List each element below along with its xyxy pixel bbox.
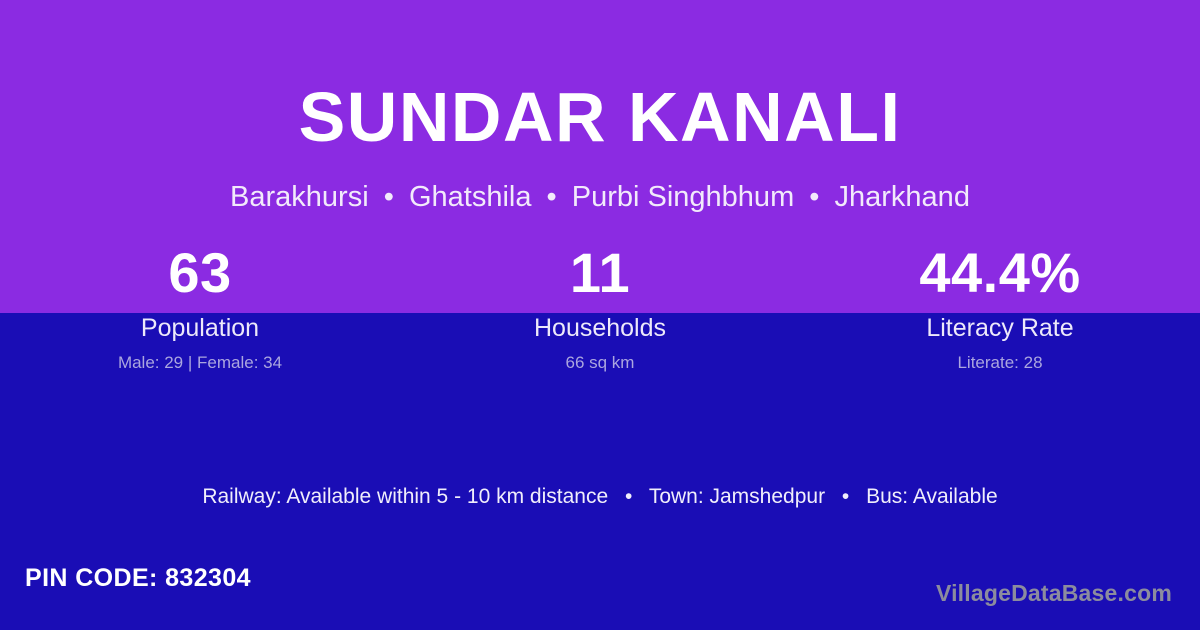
stat-detail-literacy-rate: Literate: 28 xyxy=(800,354,1200,371)
stat-label-households: Households xyxy=(400,316,800,341)
transit-item-bus: Bus: Available xyxy=(866,485,998,508)
stat-value-households: 11 xyxy=(400,245,800,301)
pin-code-label: PIN CODE: 832304 xyxy=(25,566,251,591)
stat-value-population: 63 xyxy=(0,245,400,301)
village-info-card: SUNDAR KANALI Barakhursi • Ghatshila • P… xyxy=(0,0,1200,630)
transit-separator-icon: • xyxy=(831,485,860,508)
transit-item-town: Town: Jamshedpur xyxy=(649,485,825,508)
brand-watermark: VillageDataBase.com xyxy=(936,582,1172,605)
stat-value-literacy-rate: 44.4% xyxy=(800,245,1200,301)
stat-detail-households: 66 sq km xyxy=(400,354,800,371)
stat-detail-population: Male: 29 | Female: 34 xyxy=(0,354,400,371)
transit-separator-icon: • xyxy=(614,485,643,508)
transit-item-railway: Railway: Available within 5 - 10 km dist… xyxy=(202,485,608,508)
stat-label-population: Population xyxy=(0,316,400,341)
stat-households: 11 Households 66 sq km xyxy=(400,0,800,400)
stat-population: 63 Population Male: 29 | Female: 34 xyxy=(0,0,400,400)
stats-row: 63 Population Male: 29 | Female: 34 11 H… xyxy=(0,0,1200,400)
card-footer: PIN CODE: 832304 VillageDataBase.com xyxy=(0,558,1200,630)
stat-literacy-rate: 44.4% Literacy Rate Literate: 28 xyxy=(800,0,1200,400)
transit-info-row: Railway: Available within 5 - 10 km dist… xyxy=(0,486,1200,507)
stat-label-literacy-rate: Literacy Rate xyxy=(800,316,1200,341)
